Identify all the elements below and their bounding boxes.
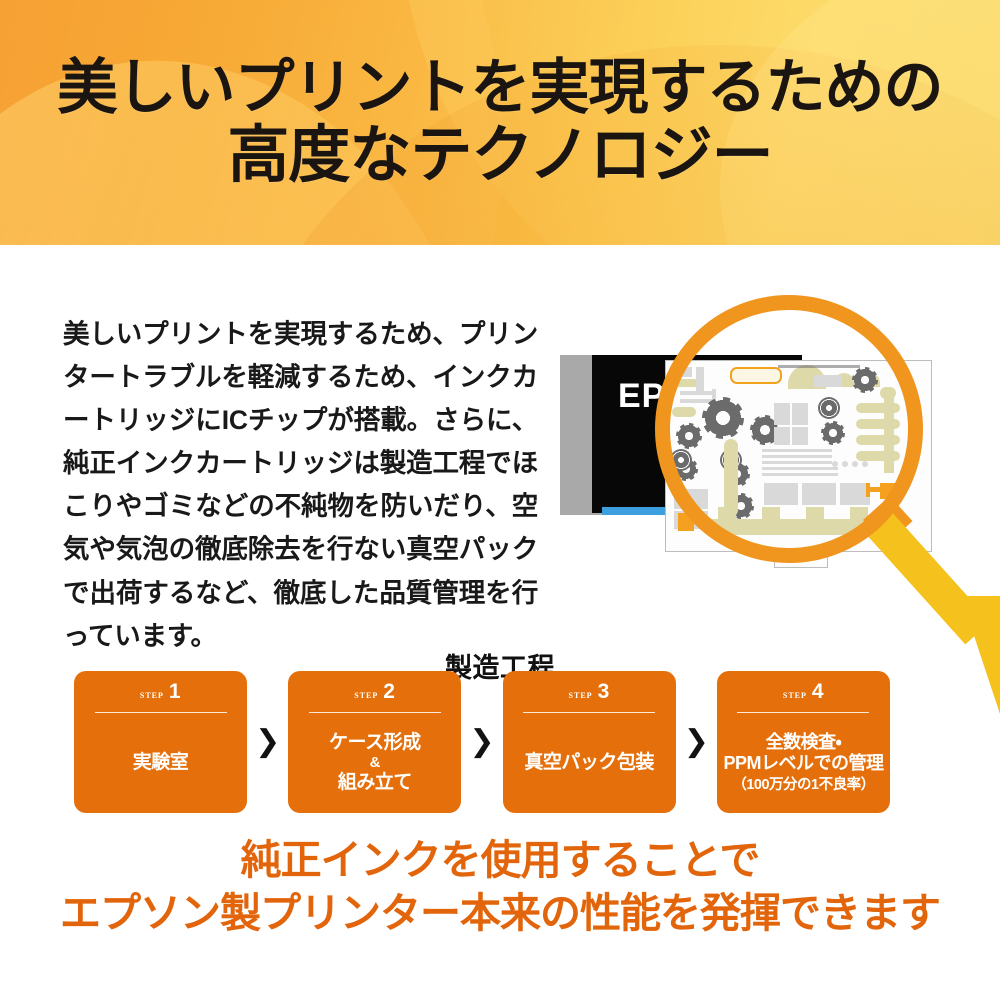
magnifier-lens-icon	[655, 295, 923, 563]
step-number-2: 2	[383, 680, 395, 704]
step-header-1: step 1	[140, 680, 181, 704]
step-body-4: 全数検査・ PPMレベルでの管理 （100万分の1不良率）	[718, 713, 888, 813]
step-header-3: step 3	[569, 680, 610, 704]
intro-paragraph: 美しいプリントを実現するため、プリンタートラブルを軽減するため、インクカートリッ…	[63, 313, 538, 659]
process-step-card-4[interactable]: step 4 全数検査・ PPMレベルでの管理 （100万分の1不良率）	[717, 671, 890, 813]
step-ampersand-2: &	[370, 754, 380, 772]
step-subnote-4: （100万分の1不良率）	[732, 777, 874, 794]
cartridge-illustration: EP	[545, 275, 1000, 675]
footer-line-1: 純正インクを使用することで	[0, 836, 1000, 884]
step-header-4: step 4	[783, 680, 824, 704]
step-word-3: step	[569, 687, 593, 702]
step-body-2: ケース形成 & 組み立て	[324, 713, 426, 813]
page-title-line-2: 高度なテクノロジー	[227, 123, 772, 188]
step-number-1: 1	[169, 680, 181, 704]
process-step-card-1[interactable]: step 1 実験室	[74, 671, 247, 813]
step-number-3: 3	[598, 680, 610, 704]
step-arrow-2: ❯	[461, 671, 502, 813]
process-steps: step 1 実験室 ❯ step 2 ケース形成 & 組み立て ❯ step …	[74, 671, 890, 813]
footer-message: 純正インクを使用することで エプソン製プリンター本来の性能を発揮できます	[0, 836, 1000, 938]
step-label-1: 実験室	[133, 752, 189, 774]
step-arrow-3: ❯	[676, 671, 717, 813]
step-word-4: step	[783, 687, 807, 702]
step-header-2: step 2	[354, 680, 395, 704]
step-body-1: 実験室	[128, 713, 194, 813]
step-word-1: step	[140, 687, 164, 702]
process-step-card-2[interactable]: step 2 ケース形成 & 組み立て	[288, 671, 461, 813]
step-body-3: 真空パック包装	[519, 713, 659, 813]
step-word-2: step	[354, 687, 378, 702]
step-number-4: 4	[812, 680, 824, 704]
step-label-3: 真空パック包装	[524, 752, 654, 774]
step-label2-4: PPMレベルでの管理	[723, 753, 883, 774]
step-label2-2: 組み立て	[338, 772, 412, 794]
step-label-4: 全数検査・	[766, 732, 842, 753]
header-banner: 美しいプリントを実現するための 高度なテクノロジー	[0, 0, 1000, 245]
process-step-card-3[interactable]: step 3 真空パック包装	[503, 671, 676, 813]
footer-line-2: エプソン製プリンター本来の性能を発揮できます	[0, 889, 1000, 937]
step-label-2: ケース形成	[329, 732, 421, 754]
page-title: 美しいプリントを実現するための 高度なテクノロジー	[0, 0, 1000, 245]
page-title-line-1: 美しいプリントを実現するための	[58, 56, 943, 119]
step-arrow-1: ❯	[247, 671, 288, 813]
